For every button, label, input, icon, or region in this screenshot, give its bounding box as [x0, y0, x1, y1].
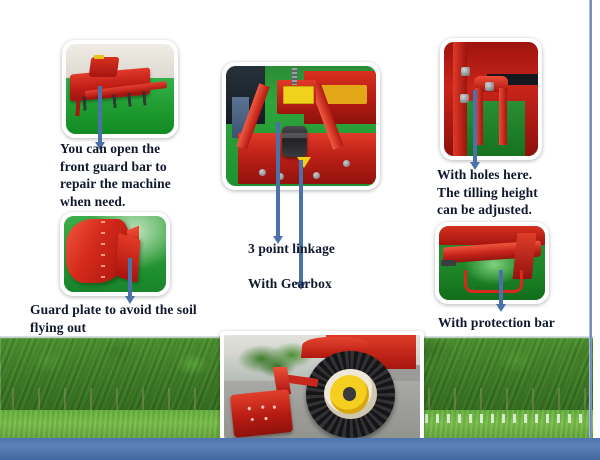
tractor-with-tiller-photo	[220, 331, 424, 453]
guard-plate-photo	[60, 212, 170, 296]
linkage-chain	[292, 68, 297, 85]
gearbox-band	[282, 133, 308, 138]
protection-bar-photo	[435, 222, 549, 304]
callout-arrow-three-point-linkage	[273, 122, 283, 244]
caption-front-guard-bar: You can open the front guard bar to repa…	[60, 140, 210, 210]
shaft-stub	[441, 260, 456, 266]
caption-protection-bar: With protection bar	[438, 314, 600, 332]
photo-inner	[444, 42, 538, 156]
warning-sticker	[283, 86, 314, 104]
showroom-floor	[459, 101, 525, 156]
rotary-tiller-full-machine-photo	[62, 40, 178, 138]
page-frame-right-margin	[595, 0, 600, 460]
arrow-head-icon	[496, 304, 506, 312]
arrow-shaft	[128, 258, 132, 296]
bracket-right-leg	[499, 88, 507, 145]
arrow-shaft	[98, 86, 102, 142]
photo-inner	[64, 216, 166, 292]
bolt	[460, 94, 469, 103]
arrow-shaft	[299, 160, 303, 282]
arrow-shaft	[276, 122, 280, 236]
caption-guard-plate: Guard plate to avoid the soil flying out	[30, 301, 245, 336]
tiller-support-leg	[75, 98, 81, 116]
photo-inner	[439, 226, 545, 300]
caption-tilling-height: With holes here. The tilling height can …	[437, 166, 597, 219]
page-root: You can open the front guard bar to repa…	[0, 0, 600, 460]
arrow-shaft	[499, 270, 503, 304]
gearbox	[282, 126, 308, 157]
caption-three-point-linkage: 3 point linkage	[248, 240, 418, 258]
callout-arrow-guard-plate	[125, 258, 135, 304]
adjustment-holes-photo	[440, 38, 542, 160]
photo-inner	[224, 335, 420, 449]
bolt	[313, 172, 320, 179]
bolt	[461, 67, 470, 76]
caption-gearbox: With Gearbox	[248, 275, 418, 293]
callout-arrow-protection-bar	[496, 270, 506, 312]
adjust-hole-pin	[485, 82, 494, 91]
page-frame-bottom-bar	[0, 438, 600, 460]
hood-rivets	[101, 221, 105, 280]
tiller-mast	[88, 57, 119, 77]
protection-bar	[464, 270, 523, 292]
bolt	[343, 160, 350, 167]
callout-arrow-gearbox	[296, 160, 306, 290]
arrow-shaft	[473, 90, 477, 162]
warning-sticker	[94, 55, 104, 60]
photo-inner	[66, 44, 174, 134]
page-frame-right-rule	[589, 0, 592, 452]
callout-arrow-tilling-height	[470, 90, 480, 170]
tiller-bolts	[240, 399, 282, 428]
